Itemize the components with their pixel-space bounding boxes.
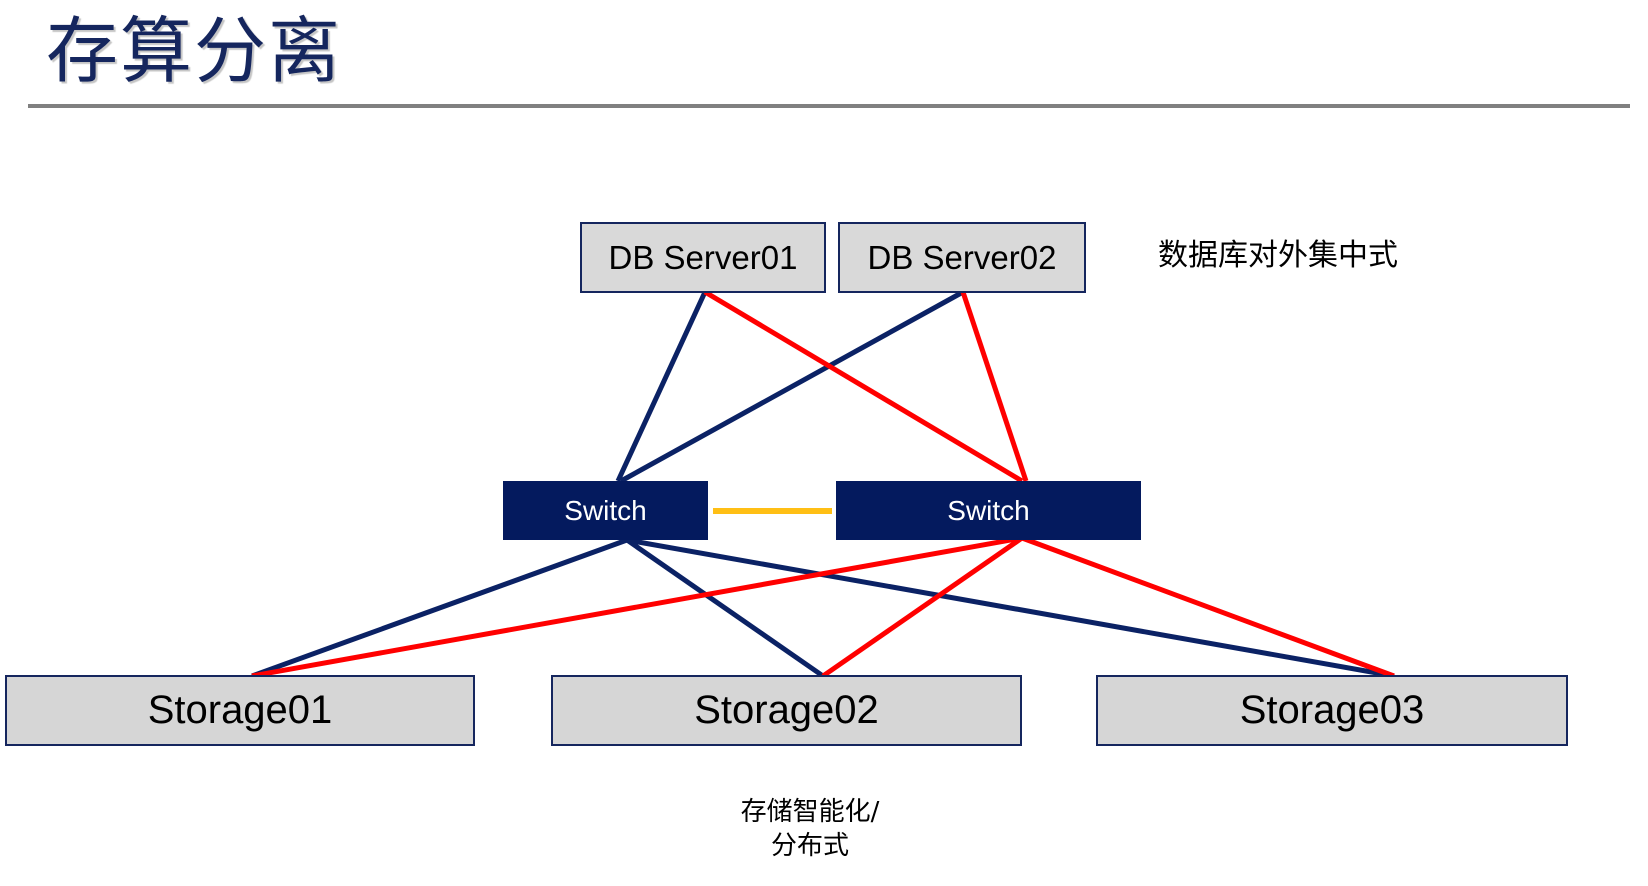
link-sw02-to-st03 [1022,538,1394,676]
connector-layer [0,0,1648,886]
link-sw01-to-st03 [627,540,1394,676]
link-sw01-to-st02 [627,540,823,676]
db-server-02-label: DB Server02 [868,239,1057,277]
storage-01-label: Storage01 [148,688,333,733]
switch-02-box[interactable]: Switch [836,481,1141,540]
storage-02-label: Storage02 [694,688,879,733]
slide-canvas: 存算分离 DB Server01 DB Server02 Switch Swit… [0,0,1648,886]
link-sw01-to-st01 [252,540,627,676]
storage-caption: 存储智能化/ 分布式 [660,795,960,863]
storage-02-box[interactable]: Storage02 [551,675,1022,746]
switch-01-box[interactable]: Switch [503,481,708,540]
storage-03-box[interactable]: Storage03 [1096,675,1568,746]
link-db02-to-sw01 [621,292,963,481]
switch-01-label: Switch [564,495,646,527]
db-server-01-box[interactable]: DB Server01 [580,222,826,293]
storage-caption-line-1: 存储智能化/ [660,795,960,829]
storage-03-label: Storage03 [1240,688,1425,733]
storage-01-box[interactable]: Storage01 [5,675,475,746]
database-centralized-note: 数据库对外集中式 [1158,230,1398,274]
link-sw02-to-st01 [252,538,1022,676]
db-server-01-label: DB Server01 [609,239,798,277]
switch-02-label: Switch [947,495,1029,527]
link-db01-to-sw01 [618,292,705,481]
storage-caption-line-2: 分布式 [660,829,960,863]
db-server-02-box[interactable]: DB Server02 [838,222,1086,293]
